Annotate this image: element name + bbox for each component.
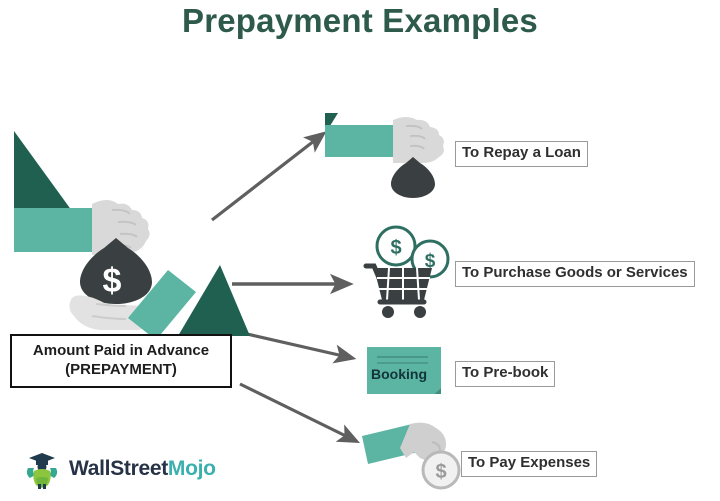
money-bag-dollar-sign: $ [84, 253, 140, 309]
logo-text-primary: WallStreet [69, 457, 168, 480]
callout-purchase-goods[interactable]: To Purchase Goods or Services [455, 261, 695, 287]
callout-repay-loan[interactable]: To Repay a Loan [455, 141, 588, 167]
prepayment-box-line-1: Amount Paid in Advance [33, 342, 209, 361]
logo-text-accent: Mojo [168, 457, 216, 480]
logo-text: WallStreetMojo [69, 457, 216, 481]
hand-dropping-coin-icon: $ [0, 0, 720, 501]
infographic-canvas: Prepayment Examples [0, 0, 720, 501]
prepayment-source-box[interactable]: Amount Paid in Advance (PREPAYMENT) [10, 334, 232, 388]
svg-text:$: $ [435, 461, 446, 483]
wallstreetmojo-logo[interactable]: WallStreetMojo [22, 448, 216, 490]
wallstreetmojo-graduate-icon [22, 448, 62, 490]
callout-pay-expenses[interactable]: To Pay Expenses [461, 451, 597, 477]
booking-card-label: Booking [371, 366, 427, 382]
callout-pre-book[interactable]: To Pre-book [455, 361, 555, 387]
prepayment-box-line-2: (PREPAYMENT) [65, 361, 177, 380]
